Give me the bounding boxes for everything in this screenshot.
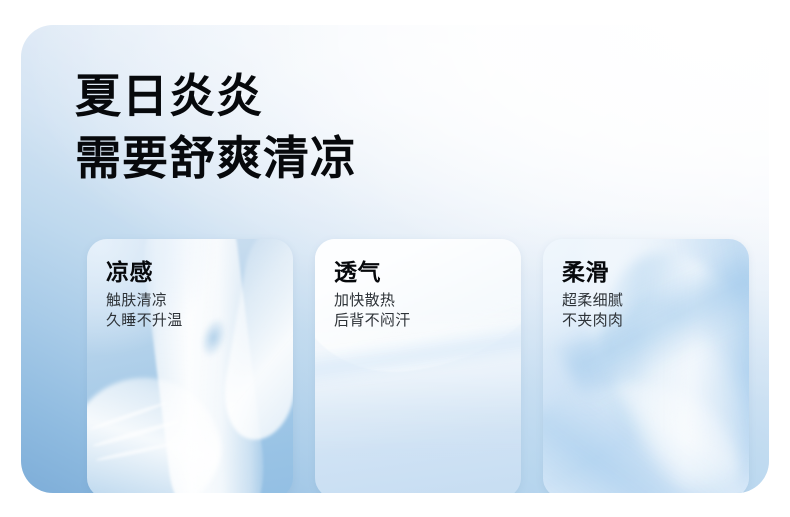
banner-panel: 夏日炎炎 需要舒爽清凉 凉感 触肤 <box>21 25 769 493</box>
card-subtitle-line-1: 超柔细腻 <box>562 291 623 311</box>
feature-card-breathe[interactable]: 透气 加快散热 后背不闷汗 <box>315 239 521 493</box>
headline: 夏日炎炎 需要舒爽清凉 <box>75 65 357 189</box>
feature-card-cool[interactable]: 凉感 触肤清凉 久睡不升温 <box>87 239 293 493</box>
card-title: 凉感 <box>106 257 183 287</box>
card-subtitle-line-2: 久睡不升温 <box>106 311 183 331</box>
card-subtitle: 加快散热 后背不闷汗 <box>334 291 411 331</box>
feature-card-silk[interactable]: 柔滑 超柔细腻 不夹肉肉 <box>543 239 749 493</box>
card-subtitle: 触肤清凉 久睡不升温 <box>106 291 183 331</box>
card-title: 柔滑 <box>562 257 623 287</box>
card-text-block: 透气 加快散热 后背不闷汗 <box>334 257 411 331</box>
card-subtitle-line-1: 加快散热 <box>334 291 411 311</box>
card-subtitle: 超柔细腻 不夹肉肉 <box>562 291 623 331</box>
headline-line-2: 需要舒爽清凉 <box>75 127 357 189</box>
card-subtitle-line-2: 不夹肉肉 <box>562 311 623 331</box>
card-text-block: 柔滑 超柔细腻 不夹肉肉 <box>562 257 623 331</box>
card-subtitle-line-1: 触肤清凉 <box>106 291 183 311</box>
card-text-block: 凉感 触肤清凉 久睡不升温 <box>106 257 183 331</box>
promo-banner-canvas: 夏日炎炎 需要舒爽清凉 凉感 触肤 <box>0 0 790 517</box>
card-subtitle-line-2: 后背不闷汗 <box>334 311 411 331</box>
headline-line-1: 夏日炎炎 <box>75 65 357 127</box>
card-title: 透气 <box>334 257 411 287</box>
feature-card-row: 凉感 触肤清凉 久睡不升温 透气 加快散热 <box>87 239 749 493</box>
